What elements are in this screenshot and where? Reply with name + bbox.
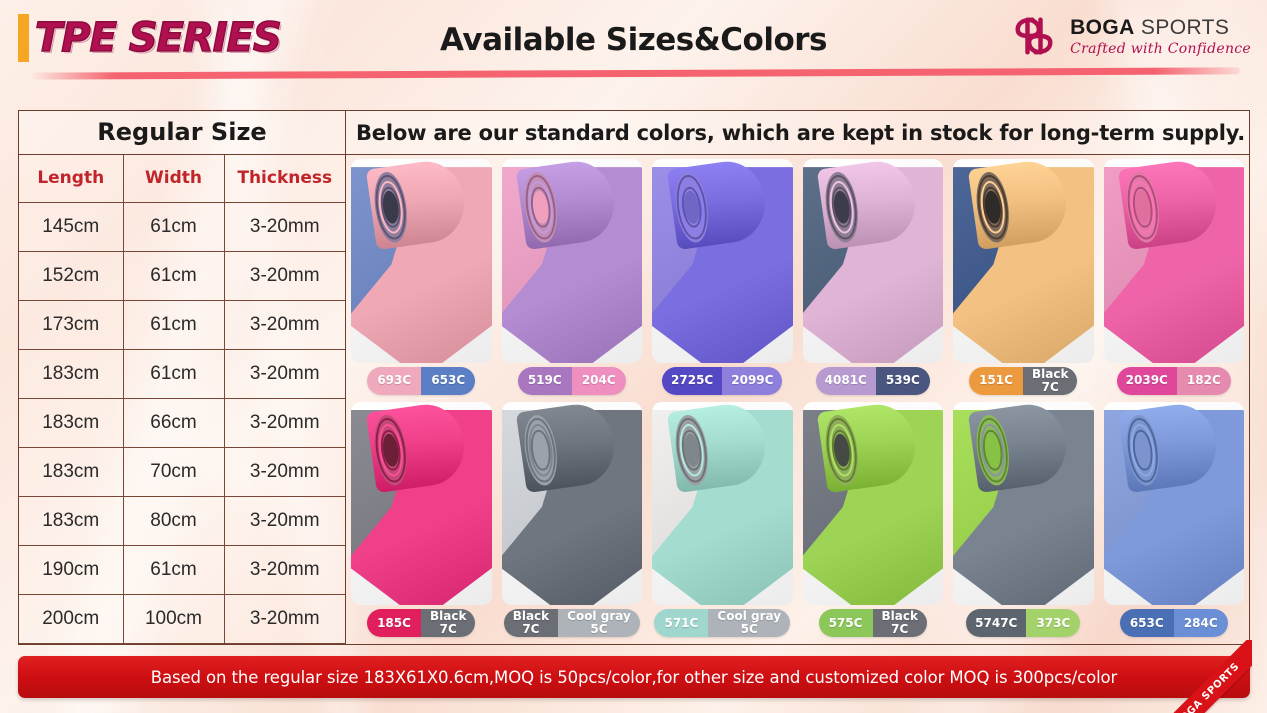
mat-color-labels: 4081C539C: [803, 366, 944, 396]
table-row: 190cm61cm3-20mm: [19, 546, 345, 595]
mat-photo: [502, 159, 643, 363]
mat-color-labels: 151CBlack 7C: [953, 366, 1094, 396]
color-code-label: 284C: [1174, 609, 1228, 637]
table-row: 183cm61cm3-20mm: [19, 350, 345, 399]
table-cell: 3-20mm: [224, 203, 345, 252]
color-code-pill: 185CBlack 7C: [367, 609, 475, 637]
table-cell: 3-20mm: [224, 448, 345, 497]
header-divider: [30, 67, 1240, 79]
color-code-pill: 575CBlack 7C: [819, 609, 927, 637]
table-cell: 173cm: [19, 301, 123, 350]
table-row: 183cm66cm3-20mm: [19, 399, 345, 448]
mat-2725c-2099c[interactable]: 2725C2099C: [652, 159, 793, 396]
mat-color-labels: 693C653C: [351, 366, 492, 396]
color-code-pill: 151CBlack 7C: [969, 367, 1077, 395]
table-cell: 3-20mm: [224, 301, 345, 350]
mat-693c-653c[interactable]: 693C653C: [351, 159, 492, 396]
color-code-label: 693C: [367, 367, 421, 395]
mat-151c-black7c[interactable]: 151CBlack 7C: [953, 159, 1094, 396]
table-cell: 61cm: [123, 301, 224, 350]
table-row: 152cm61cm3-20mm: [19, 252, 345, 301]
boga-monogram-icon: [1008, 10, 1060, 62]
mat-color-labels: 575CBlack 7C: [803, 608, 944, 638]
table-cell: 70cm: [123, 448, 224, 497]
mat-color-labels: 519C204C: [502, 366, 643, 396]
color-code-pill: 5747C373C: [966, 609, 1080, 637]
size-table: Length Width Thickness 145cm61cm3-20mm15…: [19, 155, 345, 645]
mat-color-labels: 185CBlack 7C: [351, 608, 492, 638]
corner-ribbon-label: BOGA SPORTS: [1148, 640, 1252, 713]
corner-ribbon: BOGA SPORTS: [1148, 640, 1252, 713]
table-cell: 100cm: [123, 595, 224, 644]
table-row: 200cm100cm3-20mm: [19, 595, 345, 644]
color-code-label: 185C: [367, 609, 421, 637]
color-code-label: 539C: [876, 367, 930, 395]
size-table-column: Regular Size Length Width Thickness 145c…: [19, 111, 346, 644]
mat-2039c-182c[interactable]: 2039C182C: [1104, 159, 1245, 396]
mat-photo: [1104, 159, 1245, 363]
mat-photo: [803, 159, 944, 363]
color-code-pill: 519C204C: [518, 367, 626, 395]
logo-tagline: Crafted with Confidence: [1070, 42, 1251, 56]
mat-519c-204c[interactable]: 519C204C: [502, 159, 643, 396]
size-table-caption: Regular Size: [19, 111, 345, 155]
mat-photo: [351, 159, 492, 363]
content-panel: Regular Size Length Width Thickness 145c…: [18, 110, 1250, 645]
mat-575c-black7c[interactable]: 575CBlack 7C: [803, 402, 944, 639]
brand-logo: BOGA SPORTS Crafted with Confidence: [1008, 10, 1251, 62]
color-code-label: 2099C: [722, 367, 782, 395]
table-cell: 61cm: [123, 252, 224, 301]
mat-photo: [502, 402, 643, 606]
color-code-label: 2039C: [1117, 367, 1177, 395]
color-code-label: 182C: [1177, 367, 1231, 395]
logo-text-block: BOGA SPORTS Crafted with Confidence: [1070, 17, 1251, 56]
table-header-row: Length Width Thickness: [19, 155, 345, 203]
table-cell: 183cm: [19, 448, 123, 497]
mat-color-labels: 5747C373C: [953, 608, 1094, 638]
table-cell: 3-20mm: [224, 350, 345, 399]
color-code-label: 4081C: [816, 367, 876, 395]
column-header-length: Length: [19, 155, 123, 203]
colors-column: Below are our standard colors, which are…: [346, 111, 1249, 644]
mat-5747c-373c[interactable]: 5747C373C: [953, 402, 1094, 639]
mat-photo: [1104, 402, 1245, 606]
color-code-pill: 2039C182C: [1117, 367, 1231, 395]
footer-note: Based on the regular size 183X61X0.6cm,M…: [151, 668, 1117, 687]
mat-color-labels: 2725C2099C: [652, 366, 793, 396]
mat-571c-coolgray5c[interactable]: 571CCool gray 5C: [652, 402, 793, 639]
table-cell: 3-20mm: [224, 399, 345, 448]
color-code-label: Black 7C: [873, 609, 927, 637]
mat-photo: [652, 159, 793, 363]
color-code-label: 5747C: [966, 609, 1026, 637]
mat-row: 185CBlack 7CBlack 7CCool gray 5C571CCool…: [351, 402, 1244, 639]
column-header-thickness: Thickness: [224, 155, 345, 203]
table-cell: 3-20mm: [224, 595, 345, 644]
color-code-label: 519C: [518, 367, 572, 395]
mat-black7c-coolgray5c[interactable]: Black 7CCool gray 5C: [502, 402, 643, 639]
table-cell: 190cm: [19, 546, 123, 595]
mat-photo: [351, 402, 492, 606]
logo-name-bold: BOGA: [1070, 16, 1135, 39]
color-code-label: 653C: [1120, 609, 1174, 637]
color-code-label: Cool gray 5C: [558, 609, 640, 637]
color-code-pill: 4081C539C: [816, 367, 930, 395]
color-code-pill: 653C284C: [1120, 609, 1228, 637]
table-row: 183cm80cm3-20mm: [19, 497, 345, 546]
color-code-label: Black 7C: [504, 609, 558, 637]
table-cell: 183cm: [19, 350, 123, 399]
table-row: 183cm70cm3-20mm: [19, 448, 345, 497]
mat-color-labels: 653C284C: [1104, 608, 1245, 638]
table-cell: 3-20mm: [224, 252, 345, 301]
mat-653c-284c[interactable]: 653C284C: [1104, 402, 1245, 639]
color-code-pill: 693C653C: [367, 367, 475, 395]
table-row: 145cm61cm3-20mm: [19, 203, 345, 252]
table-cell: 3-20mm: [224, 546, 345, 595]
mat-photo: [953, 402, 1094, 606]
table-cell: 66cm: [123, 399, 224, 448]
color-code-label: Cool gray 5C: [708, 609, 790, 637]
table-cell: 61cm: [123, 350, 224, 399]
color-mat-grid: 693C653C519C204C2725C2099C4081C539C151CB…: [346, 155, 1249, 644]
colors-caption: Below are our standard colors, which are…: [346, 111, 1249, 155]
logo-name: BOGA SPORTS: [1070, 16, 1229, 39]
color-code-label: 151C: [969, 367, 1023, 395]
mat-photo: [652, 402, 793, 606]
table-cell: 3-20mm: [224, 497, 345, 546]
table-cell: 80cm: [123, 497, 224, 546]
color-code-pill: 2725C2099C: [662, 367, 782, 395]
mat-photo: [953, 159, 1094, 363]
mat-photo: [803, 402, 944, 606]
mat-185c-black7c[interactable]: 185CBlack 7C: [351, 402, 492, 639]
footer-banner: Based on the regular size 183X61X0.6cm,M…: [18, 656, 1250, 698]
color-code-label: Black 7C: [421, 609, 475, 637]
mat-row: 693C653C519C204C2725C2099C4081C539C151CB…: [351, 159, 1244, 396]
mat-4081c-539c[interactable]: 4081C539C: [803, 159, 944, 396]
table-cell: 183cm: [19, 497, 123, 546]
color-code-label: 204C: [572, 367, 626, 395]
table-cell: 61cm: [123, 546, 224, 595]
mat-color-labels: Black 7CCool gray 5C: [502, 608, 643, 638]
color-code-label: 373C: [1026, 609, 1080, 637]
table-cell: 145cm: [19, 203, 123, 252]
color-code-label: 2725C: [662, 367, 722, 395]
color-code-label: 575C: [819, 609, 873, 637]
color-code-label: Black 7C: [1023, 367, 1077, 395]
column-header-width: Width: [123, 155, 224, 203]
mat-color-labels: 2039C182C: [1104, 366, 1245, 396]
table-cell: 183cm: [19, 399, 123, 448]
page-header: TPE SERIES Available Sizes&Colors BOGA S…: [0, 0, 1267, 88]
logo-name-light: SPORTS: [1135, 16, 1230, 39]
color-code-pill: Black 7CCool gray 5C: [504, 609, 640, 637]
color-code-label: 571C: [654, 609, 708, 637]
color-code-label: 653C: [421, 367, 475, 395]
color-code-pill: 571CCool gray 5C: [654, 609, 790, 637]
table-cell: 152cm: [19, 252, 123, 301]
mat-color-labels: 571CCool gray 5C: [652, 608, 793, 638]
table-row: 173cm61cm3-20mm: [19, 301, 345, 350]
table-cell: 61cm: [123, 203, 224, 252]
table-cell: 200cm: [19, 595, 123, 644]
